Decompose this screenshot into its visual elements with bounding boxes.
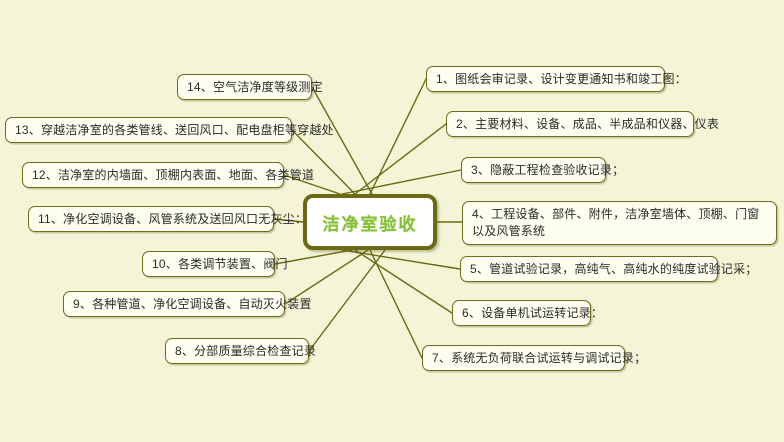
- branch-node-1[interactable]: 1、图纸会审记录、设计变更通知书和竣工图：: [426, 66, 665, 92]
- link-3: [342, 170, 461, 194]
- branch-node-7-label: 7、系统无负荷联合试运转与调试记录；: [432, 350, 615, 367]
- branch-node-5-label: 5、管道试验记录，高纯气、高纯水的纯度试验记采；: [470, 261, 708, 278]
- branch-node-13[interactable]: 13、穿越洁净室的各类管线、送回风口、配电盘柜等穿越处: [5, 117, 292, 143]
- central-node[interactable]: 洁净室验收: [303, 194, 437, 250]
- branch-node-5[interactable]: 5、管道试验记录，高纯气、高纯水的纯度试验记采；: [460, 256, 718, 282]
- link-8: [309, 250, 385, 351]
- branch-node-12[interactable]: 12、洁净室的内墙面、顶棚内表面、地面、各类管道: [22, 162, 284, 188]
- mindmap-canvas: 洁净室验收 1、图纸会审记录、设计变更通知书和竣工图：2、主要材料、设备、成品、…: [0, 0, 784, 442]
- link-2: [355, 124, 446, 194]
- branch-node-9[interactable]: 9、各种管道、净化空调设备、自动灭火装置: [63, 291, 285, 317]
- branch-node-12-label: 12、洁净室的内墙面、顶棚内表面、地面、各类管道: [32, 167, 274, 184]
- link-7: [370, 250, 422, 358]
- branch-node-6[interactable]: 6、设备单机试运转记录：: [452, 300, 591, 326]
- branch-node-4[interactable]: 4、工程设备、部件、附件，洁净室墙体、顶棚、门窗以及风管系统: [462, 201, 777, 245]
- branch-node-3[interactable]: 3、隐蔽工程检查验收记录；: [461, 157, 606, 183]
- link-1: [370, 79, 426, 194]
- central-node-label: 洁净室验收: [323, 210, 418, 235]
- branch-node-4-label: 4、工程设备、部件、附件，洁净室墙体、顶棚、门窗以及风管系统: [472, 206, 767, 240]
- branch-node-9-label: 9、各种管道、净化空调设备、自动灭火装置: [73, 296, 275, 313]
- branch-node-11[interactable]: 11、净化空调设备、风管系统及送回风口无灰尘：: [28, 206, 274, 232]
- branch-node-3-label: 3、隐蔽工程检查验收记录；: [471, 162, 596, 179]
- branch-node-10[interactable]: 10、各类调节装置、阀门: [142, 251, 275, 277]
- branch-node-13-label: 13、穿越洁净室的各类管线、送回风口、配电盘柜等穿越处: [15, 122, 282, 139]
- link-9: [285, 250, 368, 304]
- link-14: [312, 87, 372, 194]
- branch-node-8-label: 8、分部质量综合检查记录: [175, 343, 299, 360]
- branch-node-7[interactable]: 7、系统无负荷联合试运转与调试记录；: [422, 345, 625, 371]
- link-13: [292, 130, 355, 194]
- branch-node-11-label: 11、净化空调设备、风管系统及送回风口无灰尘：: [38, 211, 264, 228]
- branch-node-14[interactable]: 14、空气洁净度等级测定: [177, 74, 312, 100]
- branch-node-2-label: 2、主要材料、设备、成品、半成品和仪器、仪表: [456, 116, 684, 133]
- link-6: [355, 250, 452, 313]
- branch-node-2[interactable]: 2、主要材料、设备、成品、半成品和仪器、仪表: [446, 111, 694, 137]
- branch-node-8[interactable]: 8、分部质量综合检查记录: [165, 338, 309, 364]
- branch-node-14-label: 14、空气洁净度等级测定: [187, 79, 302, 96]
- branch-node-10-label: 10、各类调节装置、阀门: [152, 256, 265, 273]
- link-5: [342, 250, 460, 269]
- branch-node-6-label: 6、设备单机试运转记录：: [462, 305, 581, 322]
- branch-node-1-label: 1、图纸会审记录、设计变更通知书和竣工图：: [436, 71, 655, 88]
